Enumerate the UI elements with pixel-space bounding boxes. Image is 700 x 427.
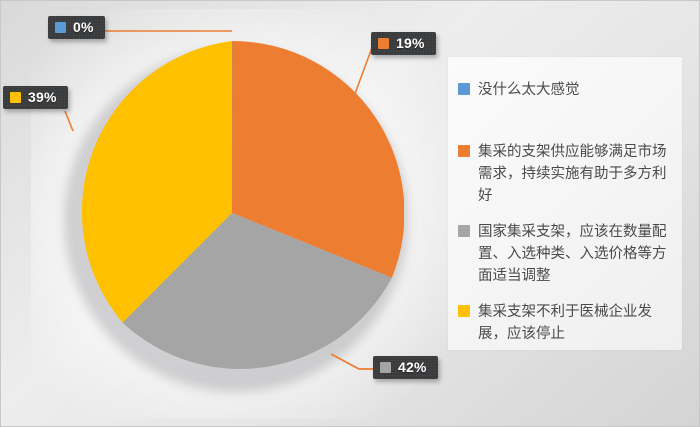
legend-swatch-orange [458, 145, 470, 157]
legend-item-should-adjust[interactable]: 国家集采支架，应该在数量配置、入选种类、入选价格等方面适当调整 [458, 221, 676, 287]
chart-legend: 没什么太大感觉 集采的支架供应能够满足市场需求，持续实施有助于多方利好 国家集采… [448, 57, 682, 350]
legend-item-supply-meets-demand[interactable]: 集采的支架供应能够满足市场需求，持续实施有助于多方利好 [458, 141, 676, 207]
data-label-key-orange [378, 38, 389, 49]
data-label-value: 39% [28, 90, 57, 104]
legend-swatch-gray [458, 225, 470, 237]
legend-item-label: 集采支架不利于医械企业发展，应该停止 [478, 301, 676, 345]
legend-swatch-yellow [458, 305, 470, 317]
data-label-key-yellow [10, 92, 21, 103]
data-label-fortytwo[interactable]: 42% [373, 356, 438, 379]
data-label-value: 19% [396, 36, 425, 50]
legend-item-should-stop[interactable]: 集采支架不利于医械企业发展，应该停止 [458, 301, 676, 345]
legend-swatch-blue [458, 83, 470, 95]
data-label-value: 42% [398, 360, 427, 374]
legend-item-label: 集采的支架供应能够满足市场需求，持续实施有助于多方利好 [478, 141, 676, 207]
pie-chart [60, 41, 404, 385]
legend-item-label: 没什么太大感觉 [478, 79, 580, 101]
legend-item-label: 国家集采支架，应该在数量配置、入选种类、入选价格等方面适当调整 [478, 221, 676, 287]
data-label-value: 0% [73, 20, 94, 34]
data-label-key-gray [380, 362, 391, 373]
pie-chart-image: 0% 19% 39% 42% 没什么太大感觉 集采的支架供应能够满足市场需求，持… [0, 0, 700, 427]
data-label-key-blue [55, 22, 66, 33]
legend-item-no-strong-feeling[interactable]: 没什么太大感觉 [458, 79, 676, 101]
data-label-zero[interactable]: 0% [48, 16, 105, 39]
pie-slices [60, 41, 404, 385]
data-label-thirtynine[interactable]: 39% [3, 86, 68, 109]
data-label-nineteen[interactable]: 19% [371, 32, 436, 55]
